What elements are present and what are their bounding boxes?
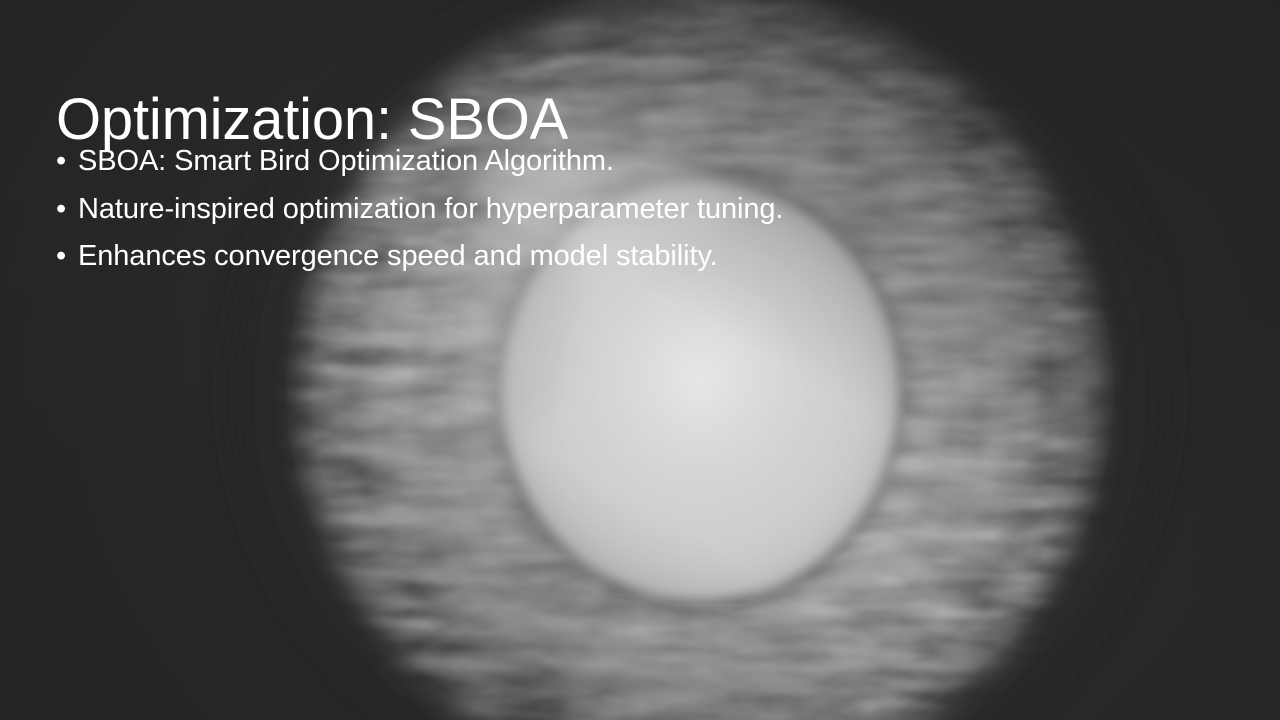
bullet-item: • SBOA: Smart Bird Optimization Algorith… (56, 145, 1056, 193)
bullet-text: SBOA: Smart Bird Optimization Algorithm. (78, 145, 614, 178)
bullet-marker-icon: • (56, 195, 78, 224)
bullet-marker-icon: • (56, 242, 78, 271)
bullet-marker-icon: • (56, 147, 78, 176)
bullet-item: • Enhances convergence speed and model s… (56, 240, 1056, 288)
bullet-text: Nature-inspired optimization for hyperpa… (78, 193, 783, 226)
bullet-item: • Nature-inspired optimization for hyper… (56, 193, 1056, 241)
presentation-slide: Optimization: SBOA • SBOA: Smart Bird Op… (0, 0, 1280, 720)
bullet-list: • SBOA: Smart Bird Optimization Algorith… (56, 145, 1056, 288)
slide-content: Optimization: SBOA • SBOA: Smart Bird Op… (0, 0, 1280, 720)
slide-title: Optimization: SBOA (56, 89, 568, 152)
bullet-text: Enhances convergence speed and model sta… (78, 240, 718, 273)
